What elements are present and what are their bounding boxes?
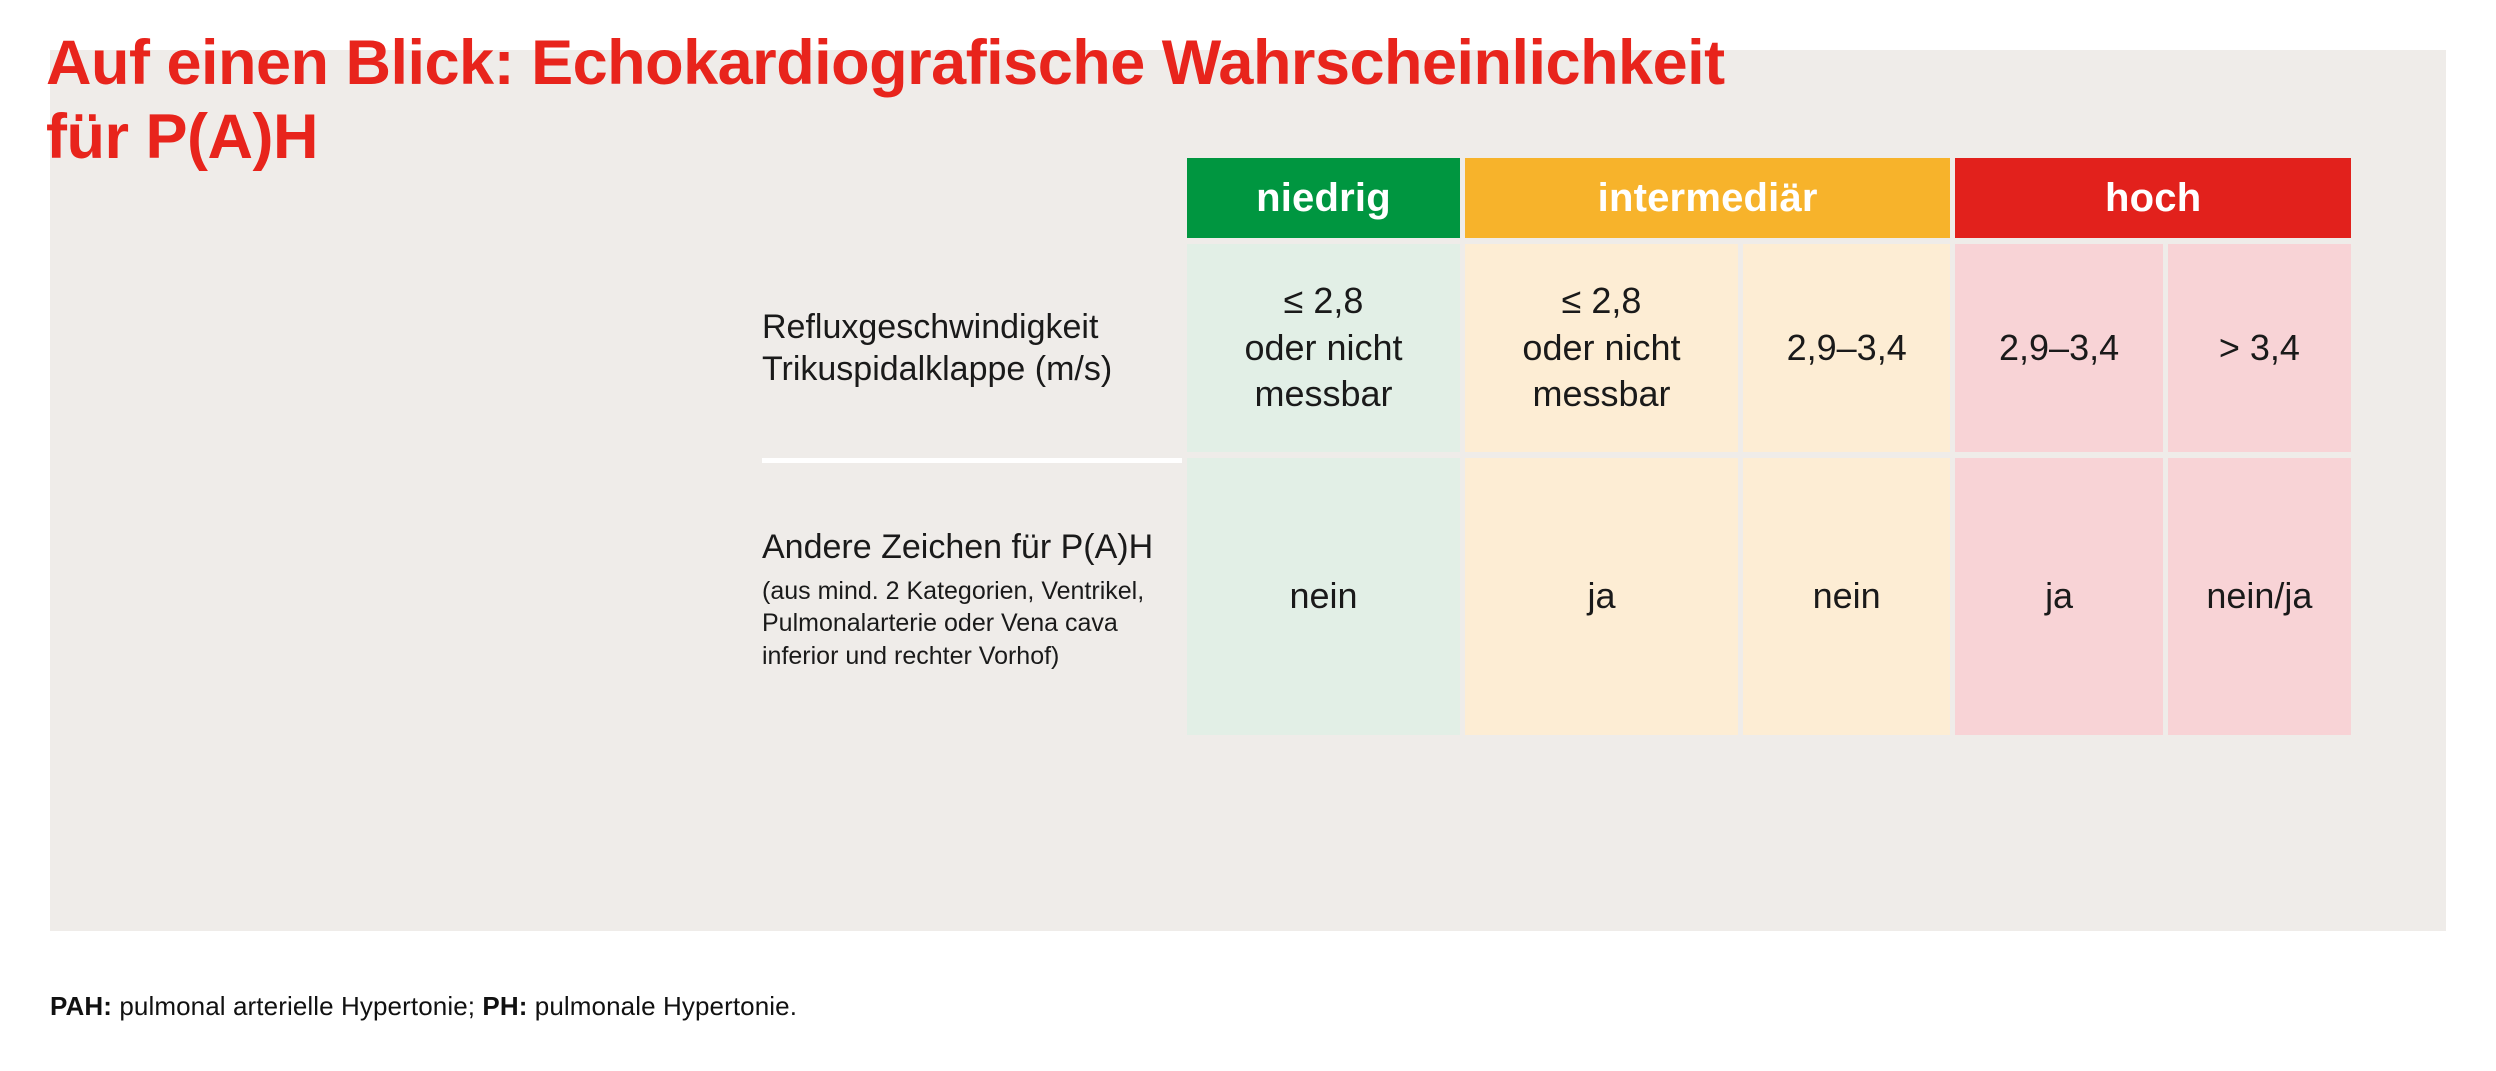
footnote-text-ph: pulmonale Hypertonie. [527,991,797,1021]
sublabel-line-1: (aus mind. 2 Kategorien, Ventrikel, [762,577,1144,605]
page-title-line-1: Auf einen Blick: Echokardiografische Wah… [46,27,2326,101]
row-label-line-1: Refluxgeschwindigkeit [762,308,1098,346]
footnote-text-pah: pulmonal arterielle Hypertonie; [112,991,482,1021]
header-hoch: hoch [1955,158,2351,238]
cell-reflux-niedrig: ≤ 2,8 oder nicht messbar [1187,244,1460,452]
sublabel-line-2: Pulmonalarterie oder Vena cava [762,609,1118,637]
footnote-abbr-pah: PAH: [50,991,112,1021]
row-label-andere-zeichen: Andere Zeichen für P(A)H (aus mind. 2 Ka… [762,458,1182,735]
table-row: Refluxgeschwindigkeit Trikuspidalklappe … [762,244,2351,452]
cell-line-3: messbar [1532,373,1670,414]
cell-zeichen-hoch-b: nein/ja [2168,458,2351,735]
cell-line-1: ≤ 2,8 [1284,280,1364,321]
footnote-abbr-ph: PH: [482,991,527,1021]
cell-line-2: oder nicht [1522,327,1680,368]
cell-zeichen-hoch-a: ja [1955,458,2162,735]
cell-zeichen-intermediaer-b: nein [1743,458,1950,735]
row-label-refluxgeschwindigkeit: Refluxgeschwindigkeit Trikuspidalklappe … [762,244,1182,452]
sublabel-line-3: inferior und rechter Vorhof) [762,642,1059,670]
row-label-sublabel: (aus mind. 2 Kategorien, Ventrikel, Pulm… [762,575,1182,673]
cell-reflux-intermediaer-a: ≤ 2,8 oder nicht messbar [1465,244,1738,452]
cell-zeichen-intermediaer-a: ja [1465,458,1738,735]
footnote: PAH: pulmonal arterielle Hypertonie; PH:… [50,990,797,1024]
cell-line-1: ≤ 2,8 [1562,280,1642,321]
probability-matrix-table: niedrig intermediär hoch [762,158,2351,735]
infographic-root: Auf einen Blick: Echokardiografische Wah… [0,0,2496,1071]
table-row: Andere Zeichen für P(A)H (aus mind. 2 Ka… [762,458,2351,735]
cell-reflux-hoch-a: 2,9–3,4 [1955,244,2162,452]
page-title: Auf einen Blick: Echokardiografische Wah… [46,27,2326,174]
row-label-main: Andere Zeichen für P(A)H [762,528,1153,566]
cell-line-3: messbar [1254,373,1392,414]
header-corner-empty [762,158,1182,238]
cell-reflux-hoch-b: > 3,4 [2168,244,2351,452]
row-label-line-2: Trikuspidalklappe (m/s) [762,350,1112,388]
cell-zeichen-niedrig: nein [1187,458,1460,735]
header-intermediaer: intermediär [1465,158,1950,238]
header-niedrig: niedrig [1187,158,1460,238]
cell-reflux-intermediaer-b: 2,9–3,4 [1743,244,1950,452]
cell-line-2: oder nicht [1244,327,1402,368]
table-header-row: niedrig intermediär hoch [762,158,2351,238]
